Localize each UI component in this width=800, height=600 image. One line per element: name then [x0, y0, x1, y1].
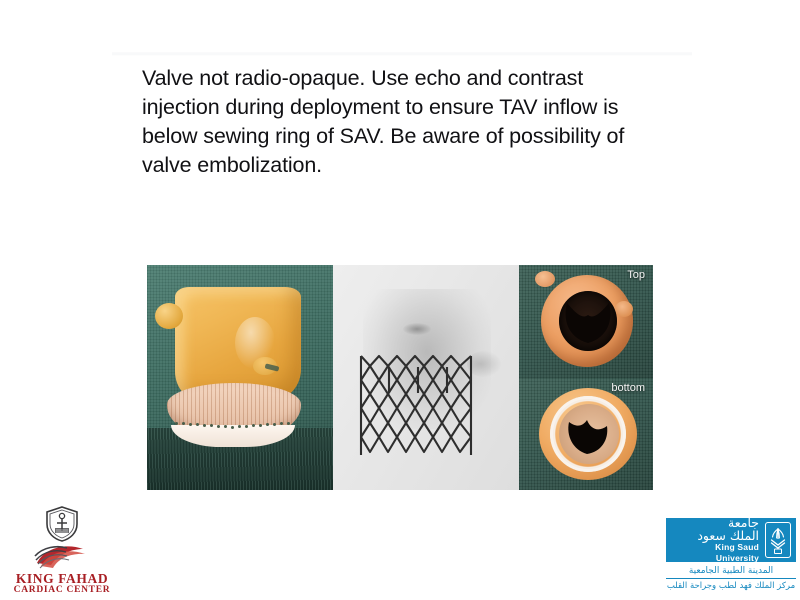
ksu-caption-cardiac-center: مركز الملك فهد لطب وجراحة القلب: [666, 578, 796, 592]
panel-label-bottom: bottom: [611, 382, 645, 394]
slide-body-text: Valve not radio-opaque. Use echo and con…: [142, 64, 662, 180]
ksu-arabic-line2: الملك سعود: [673, 529, 759, 542]
commissure-post-left: [155, 303, 183, 329]
suture-dots: [175, 420, 293, 430]
palm-and-swords-icon: [765, 522, 791, 558]
panel-en-face-bottom-view: bottom: [519, 378, 653, 490]
title-placeholder-band: [112, 52, 692, 56]
presentation-slide: Valve not radio-opaque. Use echo and con…: [0, 0, 800, 600]
ksu-caption-medical-city: المدينة الطبية الجامعية: [666, 565, 796, 577]
ksu-english-name: King Saud University: [673, 542, 759, 564]
ksu-brand-box: جامعة الملك سعود King Saud University: [666, 518, 796, 562]
king-fahad-cardiac-center-logo: KING FAHAD CARDIAC CENTER: [8, 506, 116, 592]
panel-en-face-views: Top bottom: [519, 265, 653, 490]
ksu-wordmark: جامعة الملك سعود King Saud University: [673, 516, 765, 564]
stent-mesh-icon: [359, 353, 473, 458]
calcific-focus: [403, 323, 431, 335]
panel-gross-specimen-side-view: [147, 265, 333, 490]
shield-crest-icon: [45, 506, 79, 542]
leaflet-silhouette-top-icon: [557, 289, 619, 353]
panel-en-face-top-view: Top: [519, 265, 653, 378]
king-saud-university-logo: جامعة الملك سعود King Saud University ال…: [666, 518, 796, 592]
kfcc-name-line1: KING FAHAD: [8, 572, 116, 585]
leaflet-silhouette-bottom-icon: [561, 406, 615, 460]
commissure-post-top-a: [535, 271, 555, 287]
heart-swoosh-icon: [33, 543, 91, 571]
kfcc-name-line2: CARDIAC CENTER: [8, 585, 116, 596]
panel-radiograph-stent-frame: [333, 265, 519, 490]
panel-label-top: Top: [627, 269, 645, 281]
ksu-captions: المدينة الطبية الجامعية مركز الملك فهد ل…: [666, 562, 796, 592]
figure-image-strip: Top bottom: [147, 265, 653, 490]
